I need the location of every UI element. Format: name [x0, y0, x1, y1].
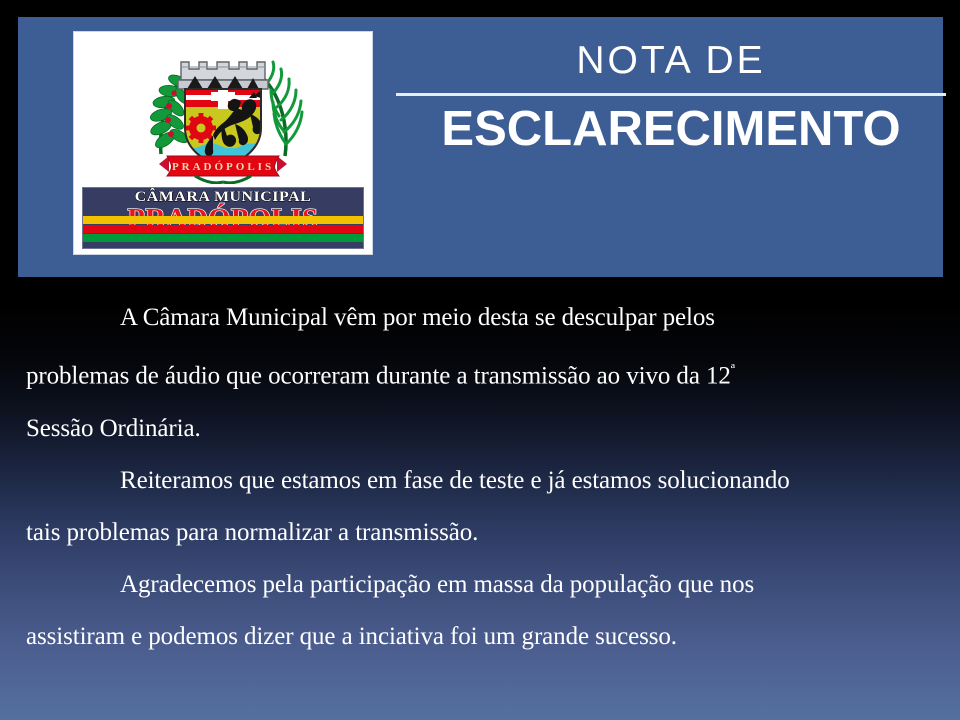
logo-card: PRADÓPOLIS CÂMARA MUNICIPAL PRADÓPOLIS [74, 32, 372, 254]
body-copy: A Câmara Municipal vêm por meio desta se… [26, 292, 934, 663]
title-block: NOTA DE ESCLARECIMENTO [396, 39, 946, 214]
body-line-text: tais problemas para normalizar a transmi… [26, 519, 478, 546]
announcement-slide: PRADÓPOLIS CÂMARA MUNICIPAL PRADÓPOLIS N… [0, 0, 960, 720]
svg-text:PRADÓPOLIS: PRADÓPOLIS [172, 161, 274, 173]
body-line: Agradecemos pela participação em massa d… [26, 559, 934, 611]
coat-of-arms-icon: PRADÓPOLIS [123, 36, 323, 184]
nameplate: CÂMARA MUNICIPAL PRADÓPOLIS [82, 187, 364, 249]
header-panel: PRADÓPOLIS CÂMARA MUNICIPAL PRADÓPOLIS N… [18, 17, 943, 277]
yellow-stripe [83, 216, 363, 224]
body-line: Sessão Ordinária. [26, 403, 934, 455]
body-line-text: Agradecemos pela participação em massa d… [120, 571, 754, 598]
ordinal-indicator: ª [731, 361, 735, 378]
body-line: assistiram e podemos dizer que a inciati… [26, 611, 934, 663]
red-stripe [83, 225, 363, 233]
body-line: tais problemas para normalizar a transmi… [26, 507, 934, 559]
body-line: Reiteramos que estamos em fase de teste … [26, 455, 934, 507]
body-line-text: Reiteramos que estamos em fase de teste … [120, 467, 790, 494]
body-line-text: A Câmara Municipal vêm por meio desta se… [120, 304, 715, 331]
body-line-text: problemas de áudio que ocorreram durante… [26, 363, 731, 390]
mural-crown [178, 62, 268, 89]
body-line-text: assistiram e podemos dizer que a inciati… [26, 623, 677, 650]
body-line: A Câmara Municipal vêm por meio desta se… [26, 292, 934, 344]
ribbon-pradopolis: PRADÓPOLIS [159, 156, 287, 176]
palm-branch-right [263, 62, 302, 156]
body-line: problemas de áudio que ocorreram durante… [26, 344, 934, 403]
title-line-esclarecimento: ESCLARECIMENTO [396, 101, 946, 157]
title-divider-rule [396, 93, 946, 96]
body-line-text: Sessão Ordinária. [26, 415, 201, 442]
green-stripe [83, 234, 363, 242]
title-line-nota-de: NOTA DE [396, 39, 946, 83]
shield [181, 84, 267, 168]
